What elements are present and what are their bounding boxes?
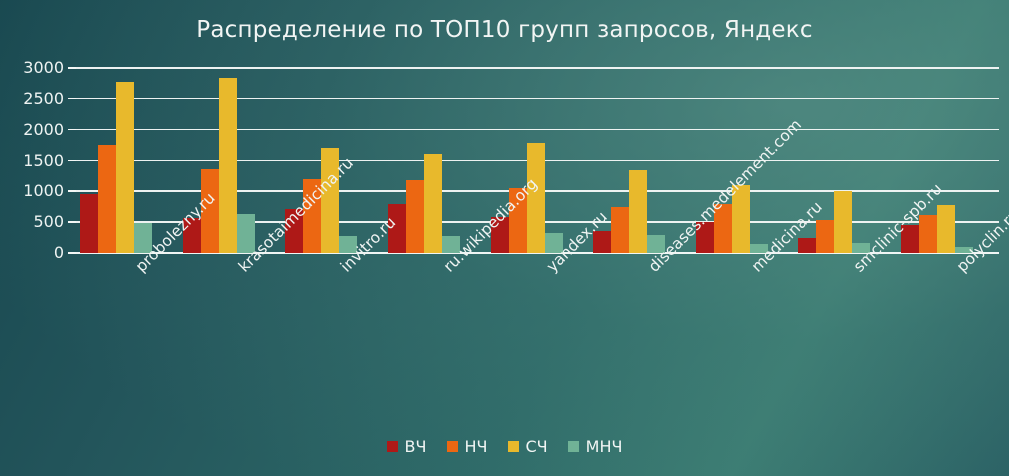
y-axis-tick-label: 3000	[0, 58, 64, 78]
y-axis-tick	[68, 98, 76, 100]
legend-item-сч[interactable]: СЧ	[508, 437, 548, 456]
bar-вч[interactable]	[80, 194, 98, 253]
legend-label: ВЧ	[405, 437, 427, 456]
y-axis-tick-label: 1000	[0, 181, 64, 201]
y-axis-tick-label: 0	[0, 243, 64, 263]
legend-swatch-icon	[568, 441, 579, 452]
bar-нч[interactable]	[406, 180, 424, 253]
legend-swatch-icon	[387, 441, 398, 452]
y-axis-tick-label: 500	[0, 212, 64, 232]
legend-label: СЧ	[526, 437, 548, 456]
chart-title: Распределение по ТОП10 групп запросов, Я…	[0, 17, 1009, 43]
legend-item-нч[interactable]: НЧ	[447, 437, 488, 456]
legend-label: МНЧ	[586, 437, 623, 456]
bar-сч[interactable]	[219, 78, 237, 253]
y-axis-tick-label: 1500	[0, 151, 64, 171]
legend-label: НЧ	[465, 437, 488, 456]
plot-area	[76, 68, 999, 253]
legend-swatch-icon	[508, 441, 519, 452]
y-axis-tick	[68, 67, 76, 69]
bar-сч[interactable]	[834, 191, 852, 253]
y-axis-tick-label: 2000	[0, 120, 64, 140]
bar-нч[interactable]	[816, 220, 834, 253]
y-axis-tick	[68, 129, 76, 131]
bar-вч[interactable]	[798, 238, 816, 253]
bar-нч[interactable]	[98, 145, 116, 253]
chart-legend: ВЧНЧСЧМНЧ	[0, 437, 1009, 456]
y-axis-tick	[68, 252, 76, 254]
bar-сч[interactable]	[937, 205, 955, 253]
bar-сч[interactable]	[629, 170, 647, 253]
bar-нч[interactable]	[611, 207, 629, 253]
y-axis-tick	[68, 221, 76, 223]
y-axis-labels: 300025002000150010005000	[0, 58, 64, 263]
bar-сч[interactable]	[116, 82, 134, 253]
legend-item-мнч[interactable]: МНЧ	[568, 437, 623, 456]
bar-нч[interactable]	[919, 215, 937, 253]
chart-canvas: Распределение по ТОП10 групп запросов, Я…	[0, 0, 1009, 476]
legend-swatch-icon	[447, 441, 458, 452]
y-axis-tick-label: 2500	[0, 89, 64, 109]
bar-group	[80, 68, 152, 253]
bar-сч[interactable]	[424, 154, 442, 253]
y-axis-tick	[68, 160, 76, 162]
y-axis-tick	[68, 190, 76, 192]
legend-item-вч[interactable]: ВЧ	[387, 437, 427, 456]
